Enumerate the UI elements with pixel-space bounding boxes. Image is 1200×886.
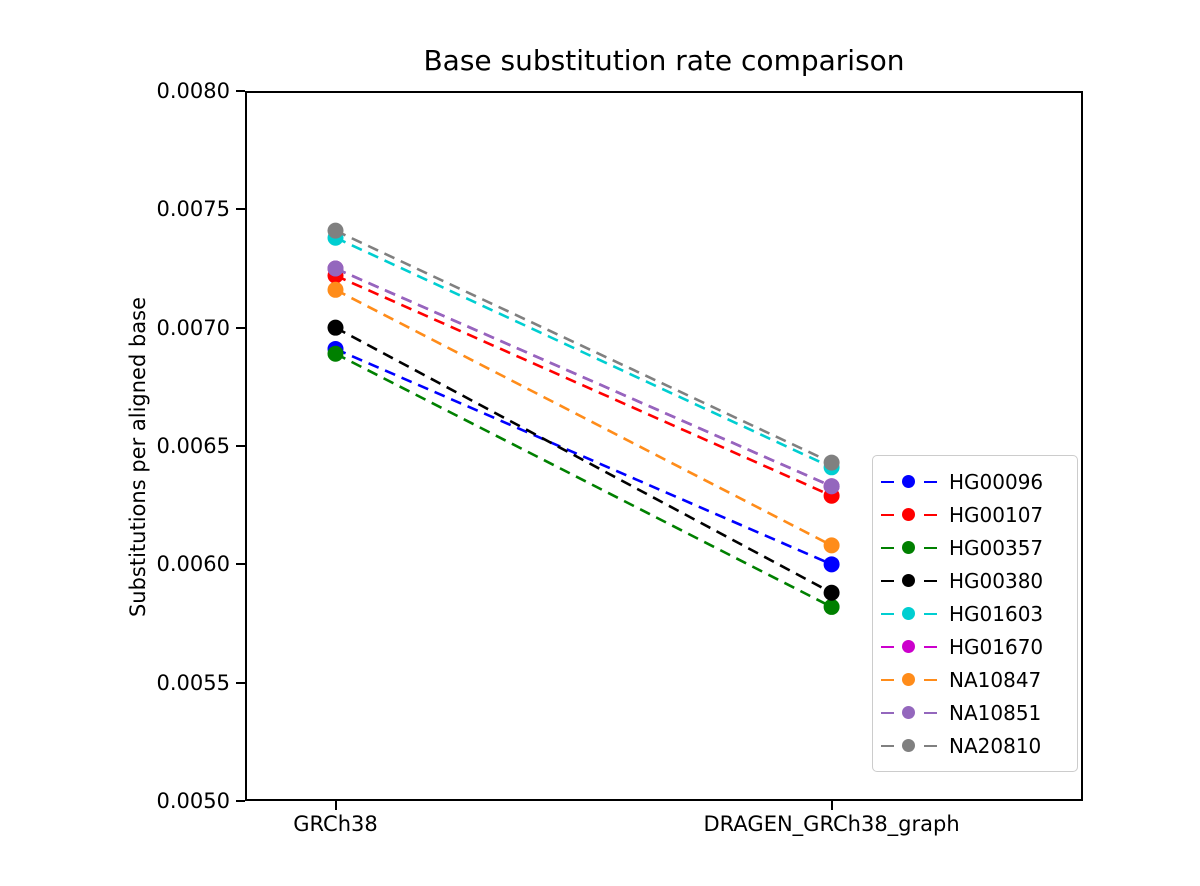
legend-item-hg00096[interactable]: HG00096 [881, 465, 1067, 498]
data-point-marker [824, 556, 840, 572]
legend-dot-icon [902, 475, 915, 488]
y-tick-mark [236, 90, 245, 92]
y-tick-mark [236, 327, 245, 329]
legend-dash-left [881, 646, 894, 649]
legend-marker-icon [881, 637, 937, 657]
y-tick-label: 0.0080 [120, 79, 230, 103]
legend-item-hg00107[interactable]: HG00107 [881, 498, 1067, 531]
chart-figure: Base substitution rate comparison Substi… [0, 0, 1200, 886]
data-point-marker [328, 261, 344, 277]
legend-item-na20810[interactable]: NA20810 [881, 729, 1067, 762]
data-point-marker [824, 455, 840, 471]
legend-dot-icon [902, 607, 915, 620]
legend-item-label: NA10851 [949, 701, 1041, 725]
series-line [336, 354, 832, 607]
y-tick-mark [236, 208, 245, 210]
legend-item-label: HG00107 [949, 503, 1043, 527]
legend-marker-icon [881, 505, 937, 525]
y-tick-label: 0.0055 [120, 671, 230, 695]
legend-marker-icon [881, 670, 937, 690]
x-tick-label: GRCh38 [293, 812, 378, 836]
legend-dash-left [881, 613, 894, 616]
series-line [336, 290, 832, 546]
series-line [336, 238, 832, 468]
legend-dash-right [924, 580, 937, 583]
legend-dash-left [881, 745, 894, 748]
legend-dot-icon [902, 673, 915, 686]
data-point-marker [328, 223, 344, 239]
data-point-marker [824, 585, 840, 601]
legend-marker-icon [881, 703, 937, 723]
page-title: Base substitution rate comparison [245, 44, 1083, 78]
legend-dash-left [881, 712, 894, 715]
x-tick-label: DRAGEN_GRCh38_graph [704, 812, 960, 836]
x-tick-mark [335, 801, 337, 810]
legend-item-hg01603[interactable]: HG01603 [881, 597, 1067, 630]
legend-marker-icon [881, 571, 937, 591]
series-line [336, 328, 832, 593]
data-point-marker [328, 282, 344, 298]
legend-dot-icon [902, 706, 915, 719]
legend-item-label: HG00357 [949, 536, 1043, 560]
legend-item-label: NA10847 [949, 668, 1041, 692]
legend-dash-right [924, 481, 937, 484]
legend-dash-right [924, 646, 937, 649]
legend-item-label: HG00096 [949, 470, 1043, 494]
legend-dash-right [924, 514, 937, 517]
legend-item-hg01670[interactable]: HG01670 [881, 630, 1067, 663]
legend-item-label: NA20810 [949, 734, 1041, 758]
legend-item-label: HG00380 [949, 569, 1043, 593]
series-line [336, 276, 832, 496]
chart-legend[interactable]: HG00096HG00107HG00357HG00380HG01603HG016… [872, 455, 1078, 772]
y-tick-mark [236, 445, 245, 447]
legend-dot-icon [902, 508, 915, 521]
y-tick-label: 0.0070 [120, 316, 230, 340]
series-line [336, 269, 832, 487]
legend-dot-icon [902, 541, 915, 554]
legend-dash-right [924, 613, 937, 616]
y-tick-label: 0.0075 [120, 197, 230, 221]
data-point-marker [328, 320, 344, 336]
legend-dash-right [924, 712, 937, 715]
legend-item-na10851[interactable]: NA10851 [881, 696, 1067, 729]
series-line [336, 349, 832, 564]
y-tick-label: 0.0060 [120, 552, 230, 576]
x-tick-mark [831, 801, 833, 810]
legend-dash-right [924, 745, 937, 748]
legend-item-hg00380[interactable]: HG00380 [881, 564, 1067, 597]
y-tick-label: 0.0050 [120, 789, 230, 813]
legend-dot-icon [902, 640, 915, 653]
legend-dash-right [924, 679, 937, 682]
legend-marker-icon [881, 472, 937, 492]
y-tick-mark [236, 563, 245, 565]
legend-marker-icon [881, 604, 937, 624]
legend-item-label: HG01603 [949, 602, 1043, 626]
legend-item-hg00357[interactable]: HG00357 [881, 531, 1067, 564]
y-tick-mark [236, 682, 245, 684]
data-point-marker [824, 478, 840, 494]
data-point-marker [824, 599, 840, 615]
data-point-marker [328, 346, 344, 362]
data-point-marker [824, 537, 840, 553]
legend-dot-icon [902, 739, 915, 752]
y-tick-mark [236, 800, 245, 802]
legend-marker-icon [881, 538, 937, 558]
legend-marker-icon [881, 736, 937, 756]
y-tick-label: 0.0065 [120, 434, 230, 458]
legend-dash-left [881, 679, 894, 682]
legend-item-na10847[interactable]: NA10847 [881, 663, 1067, 696]
legend-dot-icon [902, 574, 915, 587]
legend-dash-right [924, 547, 937, 550]
legend-dash-left [881, 481, 894, 484]
series-line [336, 231, 832, 463]
legend-dash-left [881, 514, 894, 517]
legend-dash-left [881, 547, 894, 550]
y-axis-tick-labels: 0.00500.00550.00600.00650.00700.00750.00… [118, 0, 230, 886]
legend-item-label: HG01670 [949, 635, 1043, 659]
legend-dash-left [881, 580, 894, 583]
